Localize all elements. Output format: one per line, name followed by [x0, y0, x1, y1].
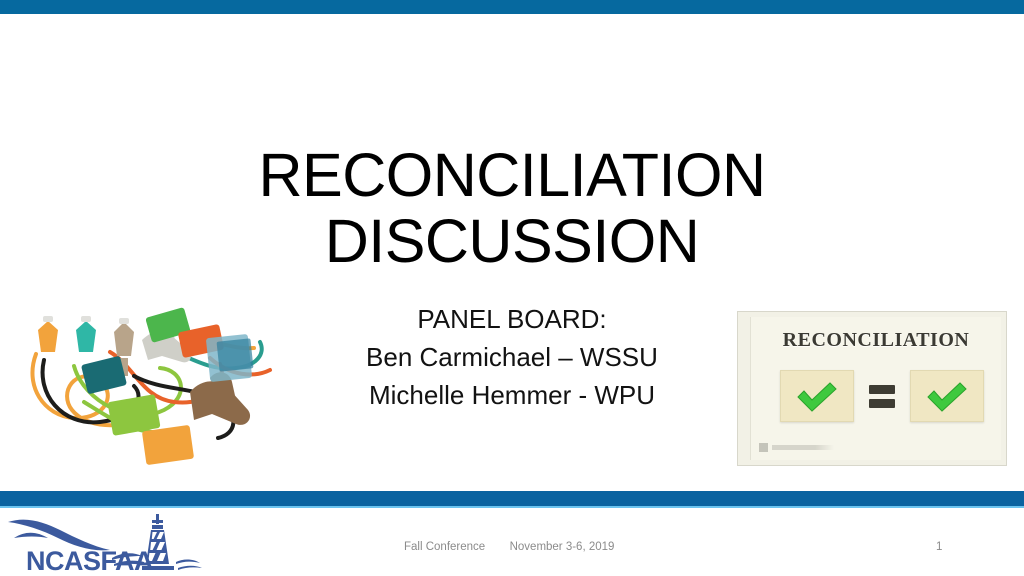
image-watermark: [759, 443, 834, 452]
check-mark-icon: [924, 379, 970, 413]
watermark-badge-icon: [759, 443, 768, 452]
slide-footer: Fall Conference November 3-6, 2019: [404, 541, 614, 553]
reconciliation-image: RECONCILIATION: [737, 311, 1007, 466]
left-check-box: [780, 370, 854, 422]
slide-number: 1: [936, 541, 942, 553]
subtitle-presenter-1: Ben Carmichael – WSSU: [290, 338, 734, 376]
equals-sign-icon: [869, 385, 895, 408]
check-mark-icon: [794, 379, 840, 413]
ncasfaa-wordmark: NCASFAA: [26, 546, 153, 576]
reconciliation-image-inner: RECONCILIATION: [750, 317, 1001, 460]
watermark-text: [772, 445, 834, 450]
subtitle-presenter-2: Michelle Hemmer - WPU: [290, 376, 734, 414]
footer-dates: November 3-6, 2019: [510, 541, 615, 553]
title-line-1: RECONCILIATION: [180, 142, 844, 208]
ncasfaa-logo: NCASFAA: [4, 508, 222, 576]
subtitle-block: PANEL BOARD: Ben Carmichael – WSSU Miche…: [290, 300, 734, 414]
footer-event: Fall Conference: [404, 541, 485, 553]
top-accent-bar: [0, 0, 1024, 14]
subtitle-panel-board: PANEL BOARD:: [290, 300, 734, 338]
reconciliation-image-heading: RECONCILIATION: [751, 329, 1001, 352]
presentation-slide: RECONCILIATION DISCUSSION PANEL BOARD: B…: [0, 0, 1024, 576]
bottom-accent-bar: [0, 491, 1024, 506]
title-line-2: DISCUSSION: [180, 208, 844, 274]
cables-collage-image: [14, 306, 276, 470]
right-check-box: [910, 370, 984, 422]
reconciliation-compare-row: [773, 370, 991, 422]
page-title: RECONCILIATION DISCUSSION: [180, 142, 844, 274]
